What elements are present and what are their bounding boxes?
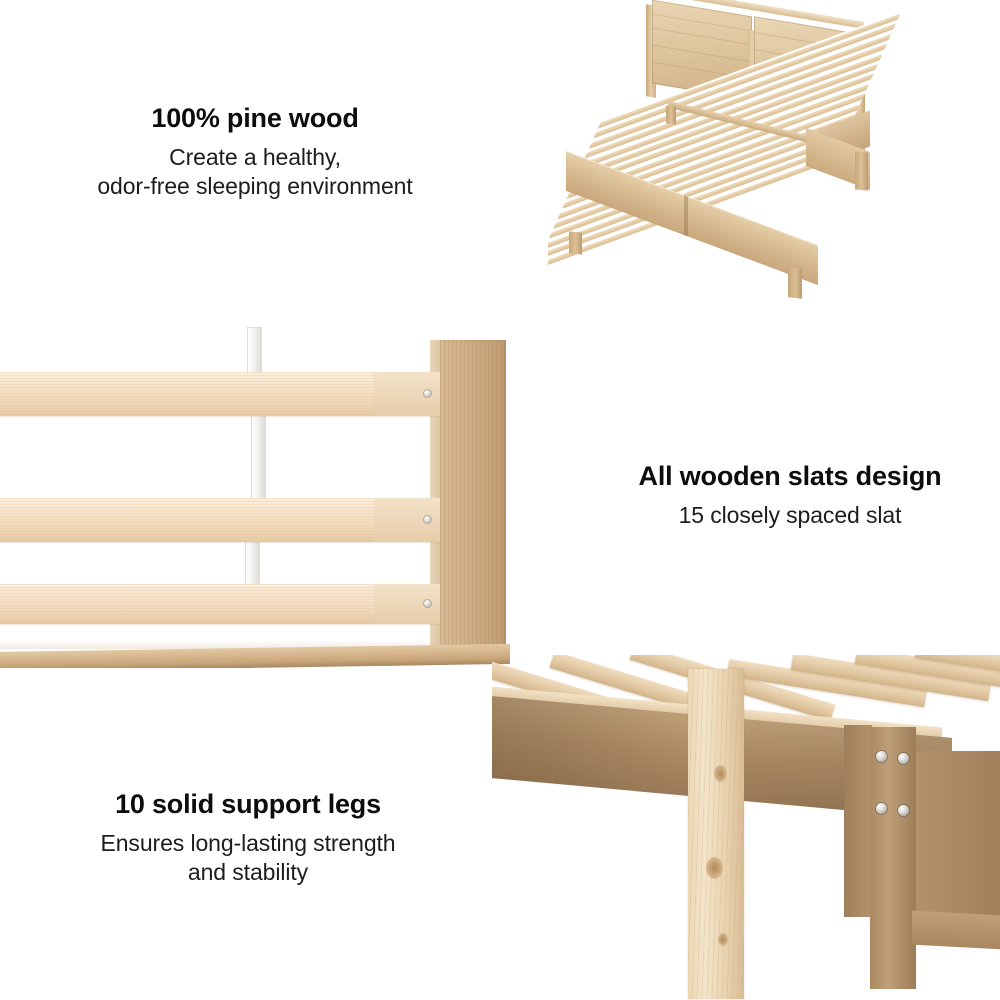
feature-pine-wood: 100% pine wood Create a healthy, odor-fr…: [40, 104, 470, 202]
support-leg-photo: [492, 655, 1000, 1000]
pine-slat-3-end: [374, 584, 444, 624]
corner-bolt-4: [898, 805, 909, 816]
feature-pine-wood-subtitle: Create a healthy, odor-free sleeping env…: [40, 143, 470, 202]
feature-wooden-slats-title: All wooden slats design: [600, 462, 980, 492]
corner-bolt-2: [898, 753, 909, 764]
slat-screw-3: [424, 600, 431, 607]
rail-return-face: [916, 751, 1000, 921]
lower-cross-brace: [912, 911, 1000, 950]
feature-support-legs: 10 solid support legs Ensures long-lasti…: [38, 790, 458, 888]
feature-support-legs-title: 10 solid support legs: [38, 790, 458, 820]
webbing-strap-middle: [252, 414, 265, 502]
bed-leg-back-right: [855, 151, 868, 190]
slat-screw-2: [424, 516, 431, 523]
bed-leg-back-left: [666, 105, 676, 124]
feature-wooden-slats-subtitle: 15 closely spaced slat: [600, 501, 980, 530]
infographic-page: 100% pine wood Create a healthy, odor-fr…: [0, 0, 1000, 1000]
webbing-strap-bottom: [246, 540, 259, 588]
oak-side-rail: [440, 340, 506, 658]
bed-frame-photo: [548, 0, 1000, 318]
bed-leg-front-left: [569, 231, 582, 254]
feature-pine-wood-title: 100% pine wood: [40, 104, 470, 134]
pine-slat-1-end: [374, 372, 444, 416]
feature-wooden-slats: All wooden slats design 15 closely space…: [600, 462, 980, 530]
slat-closeup-photo: [0, 318, 512, 668]
feature-support-legs-subtitle-line2: and stability: [188, 859, 308, 885]
bed-frame-illustration: [548, 0, 1000, 318]
slat-screw-1: [424, 390, 431, 397]
corner-bolt-3: [876, 803, 887, 814]
corner-post-face: [844, 725, 872, 917]
feature-pine-wood-subtitle-line1: Create a healthy,: [169, 144, 341, 170]
pine-slat-2-end: [374, 498, 444, 542]
webbing-strap-top: [248, 328, 261, 376]
corner-support-post: [870, 727, 916, 989]
feature-support-legs-subtitle-line1: Ensures long-lasting strength: [101, 830, 396, 856]
centre-pine-support-leg: [688, 669, 744, 999]
corner-bolt-1: [876, 751, 887, 762]
feature-support-legs-subtitle: Ensures long-lasting strength and stabil…: [38, 829, 458, 888]
feature-pine-wood-subtitle-line2: odor-free sleeping environment: [97, 173, 412, 199]
bed-leg-front-right: [788, 267, 802, 298]
